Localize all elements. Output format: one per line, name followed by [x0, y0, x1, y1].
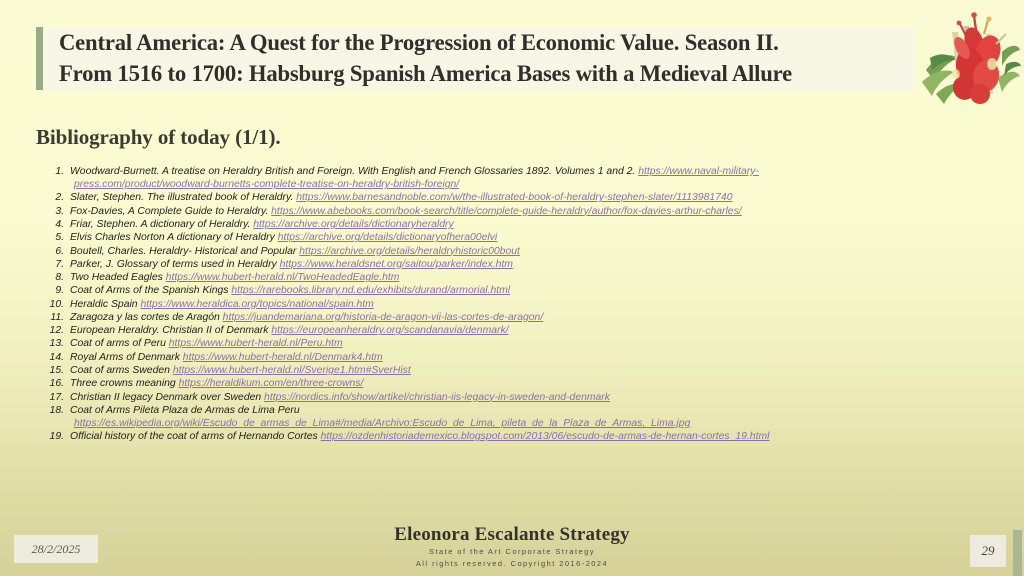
list-item-body: Boutell, Charles. Heraldry- Historical a…: [70, 245, 998, 258]
list-item-number: 11.: [38, 311, 70, 324]
list-item: 19. Official history of the coat of arms…: [38, 430, 998, 443]
reference-title: Coat of arms Sweden: [70, 365, 173, 376]
list-item: 16. Three crowns meaning https://heraldi…: [38, 377, 998, 390]
list-item-body: Royal Arms of Denmark https://www.hubert…: [70, 351, 998, 364]
list-item-body: Coat of Arms Pileta Plaza de Armas de Li…: [70, 404, 998, 430]
list-item: 5. Elvis Charles Norton A dictionary of …: [38, 231, 998, 244]
reference-title: Heraldic Spain: [70, 299, 140, 310]
reference-title: Elvis Charles Norton A dictionary of Her…: [70, 232, 278, 243]
list-item-number: 5.: [38, 231, 70, 244]
list-item-number: 6.: [38, 245, 70, 258]
list-item: 9. Coat of Arms of the Spanish Kings htt…: [38, 284, 998, 297]
reference-title: Woodward-Burnett. A treatise on Heraldry…: [70, 166, 638, 177]
reference-link[interactable]: https://nordics.info/show/artikel/christ…: [264, 392, 610, 403]
list-item-number: 9.: [38, 284, 70, 297]
list-item: 3. Fox-Davies, A Complete Guide to Heral…: [38, 205, 998, 218]
reference-title: Official history of the coat of arms of …: [70, 431, 321, 442]
reference-title: Fox-Davies, A Complete Guide to Heraldry…: [70, 206, 271, 217]
list-item: 14. Royal Arms of Denmark https://www.hu…: [38, 351, 998, 364]
list-item-body: Official history of the coat of arms of …: [70, 430, 998, 443]
list-item-body: Zaragoza y las cortes de Aragón https://…: [70, 311, 998, 324]
list-item-number: 12.: [38, 324, 70, 337]
reference-title: Two Headed Eagles: [70, 272, 166, 283]
list-item-number: 19.: [38, 430, 70, 443]
reference-title: Coat of Arms of the Spanish Kings: [70, 285, 231, 296]
reference-title: Zaragoza y las cortes de Aragón: [70, 312, 223, 323]
reference-title: Royal Arms of Denmark: [70, 352, 183, 363]
list-item-number: 4.: [38, 218, 70, 231]
title-accent-bar: [36, 27, 43, 90]
list-item-number: 18.: [38, 404, 70, 417]
floral-watercolor-icon: [918, 8, 1022, 112]
list-item-body: Slater, Stephen. The illustrated book of…: [70, 191, 998, 204]
list-item-body: European Heraldry. Christian II of Denma…: [70, 324, 998, 337]
reference-link[interactable]: https://heraldikum.com/en/three-crowns/: [179, 378, 364, 389]
reference-title: Friar, Stephen. A dictionary of Heraldry…: [70, 219, 253, 230]
reference-link[interactable]: https://www.barnesandnoble.com/w/the-ill…: [296, 192, 732, 203]
reference-link[interactable]: https://archive.org/details/dictionaryhe…: [253, 219, 453, 230]
list-item-body: Parker, J. Glossary of terms used in Her…: [70, 258, 998, 271]
reference-link[interactable]: https://archive.org/details/dictionaryof…: [278, 232, 497, 243]
list-item-number: 8.: [38, 271, 70, 284]
list-item-number: 15.: [38, 364, 70, 377]
reference-link[interactable]: https://www.abebooks.com/book-search/tit…: [271, 206, 742, 217]
list-item-number: 16.: [38, 377, 70, 390]
bibliography-list: 1. Woodward-Burnett. A treatise on Heral…: [38, 165, 998, 444]
list-item: 2. Slater, Stephen. The illustrated book…: [38, 191, 998, 204]
list-item: 11. Zaragoza y las cortes de Aragón http…: [38, 311, 998, 324]
list-item-body: Three crowns meaning https://heraldikum.…: [70, 377, 998, 390]
reference-title: Boutell, Charles. Heraldry- Historical a…: [70, 246, 299, 257]
list-item-body: Friar, Stephen. A dictionary of Heraldry…: [70, 218, 998, 231]
list-item-number: 2.: [38, 191, 70, 204]
list-item-body: Woodward-Burnett. A treatise on Heraldry…: [70, 165, 998, 191]
list-item: 4. Friar, Stephen. A dictionary of Heral…: [38, 218, 998, 231]
footer-brand-block: Eleonora Escalante Strategy State of the…: [0, 524, 1024, 570]
list-item-body: Coat of arms of Peru https://www.hubert-…: [70, 337, 998, 350]
title-line-1: Central America: A Quest for the Progres…: [59, 28, 886, 59]
reference-link[interactable]: https://www.heraldsnet.org/saitou/parker…: [280, 259, 513, 270]
list-item-number: 17.: [38, 391, 70, 404]
list-item-body: Two Headed Eagles https://www.hubert-her…: [70, 271, 998, 284]
reference-link[interactable]: https://rarebooks.library.nd.edu/exhibit…: [231, 285, 510, 296]
reference-title: Slater, Stephen. The illustrated book of…: [70, 192, 296, 203]
reference-link[interactable]: https://www.naval-military-: [638, 166, 759, 177]
reference-title: Christian II legacy Denmark over Sweden: [70, 392, 264, 403]
list-item: 1. Woodward-Burnett. A treatise on Heral…: [38, 165, 998, 191]
page-number-badge: 29: [970, 535, 1006, 567]
reference-title: Three crowns meaning: [70, 378, 179, 389]
list-item-body: Fox-Davies, A Complete Guide to Heraldry…: [70, 205, 998, 218]
page-number: 29: [982, 543, 995, 559]
list-item-body: Elvis Charles Norton A dictionary of Her…: [70, 231, 998, 244]
reference-link[interactable]: https://es.wikipedia.org/wiki/Escudo_de_…: [74, 417, 998, 430]
list-item: 10. Heraldic Spain https://www.heraldica…: [38, 298, 998, 311]
slide-title-band: Central America: A Quest for the Progres…: [36, 27, 916, 90]
reference-link[interactable]: https://europeanheraldry.org/scandanavia…: [271, 325, 508, 336]
slide-title: Central America: A Quest for the Progres…: [43, 27, 916, 90]
list-item: 8. Two Headed Eagles https://www.hubert-…: [38, 271, 998, 284]
brand-tagline: State of the Art Corporate Strategy: [0, 546, 1024, 558]
list-item-body: Coat of Arms of the Spanish Kings https:…: [70, 284, 998, 297]
list-item-number: 10.: [38, 298, 70, 311]
list-item: 15. Coat of arms Sweden https://www.hube…: [38, 364, 998, 377]
reference-link[interactable]: https://juandemariana.org/historia-de-ar…: [223, 312, 544, 323]
list-item-number: 13.: [38, 337, 70, 350]
list-item: 12. European Heraldry. Christian II of D…: [38, 324, 998, 337]
reference-link[interactable]: https://ozdenhistoriademexico.blogspot.c…: [321, 431, 770, 442]
reference-link[interactable]: https://www.hubert-herald.nl/Sverige1.ht…: [173, 365, 411, 376]
brand-name: Eleonora Escalante Strategy: [0, 524, 1024, 546]
reference-title: Coat of arms of Peru: [70, 338, 169, 349]
reference-link[interactable]: https://www.hubert-herald.nl/TwoHeadedEa…: [166, 272, 400, 283]
reference-title: Parker, J. Glossary of terms used in Her…: [70, 259, 280, 270]
list-item-number: 7.: [38, 258, 70, 271]
slide-canvas: Central America: A Quest for the Progres…: [0, 0, 1024, 576]
page-accent-bar: [1013, 530, 1022, 576]
reference-title: Coat of Arms Pileta Plaza de Armas de Li…: [70, 405, 300, 416]
list-item-number: 1.: [38, 165, 70, 178]
list-item: 7. Parker, J. Glossary of terms used in …: [38, 258, 998, 271]
reference-link[interactable]: https://www.heraldica.org/topics/nationa…: [140, 299, 373, 310]
reference-title: European Heraldry. Christian II of Denma…: [70, 325, 271, 336]
reference-link[interactable]: https://www.hubert-herald.nl/Peru.htm: [169, 338, 343, 349]
title-line-2: From 1516 to 1700: Habsburg Spanish Amer…: [59, 59, 886, 90]
copyright-text: All rights reserved. Copyright 2016-2024: [0, 558, 1024, 570]
reference-link[interactable]: https://archive.org/details/heraldryhist…: [299, 246, 520, 257]
list-item-body: Coat of arms Sweden https://www.hubert-h…: [70, 364, 998, 377]
list-item-number: 14.: [38, 351, 70, 364]
list-item: 6. Boutell, Charles. Heraldry- Historica…: [38, 245, 998, 258]
reference-link-continued[interactable]: press.com/product/woodward-burnetts-comp…: [74, 178, 998, 191]
list-item: 13. Coat of arms of Peru https://www.hub…: [38, 337, 998, 350]
list-item-body: Christian II legacy Denmark over Sweden …: [70, 391, 998, 404]
list-item-number: 3.: [38, 205, 70, 218]
reference-link[interactable]: https://www.hubert-herald.nl/Denmark4.ht…: [183, 352, 383, 363]
list-item: 17. Christian II legacy Denmark over Swe…: [38, 391, 998, 404]
page-title: Bibliography of today (1/1).: [36, 125, 281, 150]
list-item: 18. Coat of Arms Pileta Plaza de Armas d…: [38, 404, 998, 430]
list-item-body: Heraldic Spain https://www.heraldica.org…: [70, 298, 998, 311]
